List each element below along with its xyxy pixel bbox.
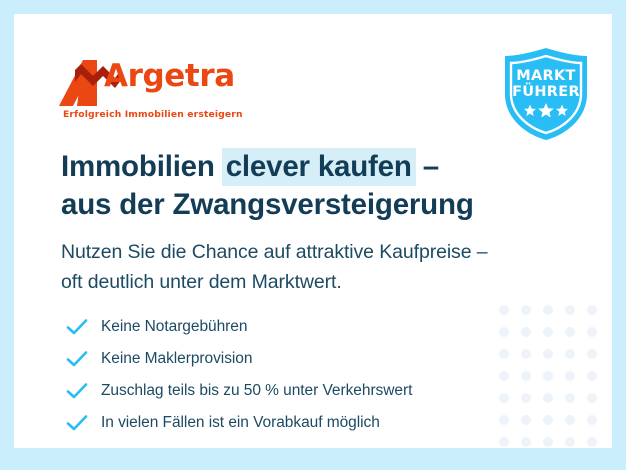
list-item-label: In vielen Fällen ist ein Vorabkauf mögli…: [101, 414, 380, 432]
list-item: In vielen Fällen ist ein Vorabkauf mögli…: [64, 408, 534, 438]
logo-tagline: Erfolgreich Immobilien ersteigern: [63, 109, 243, 120]
list-item: Zuschlag teils bis zu 50 % unter Verkehr…: [64, 376, 534, 406]
list-item-label: Keine Maklerprovision: [101, 350, 252, 368]
page-title: Immobilien clever kaufen – aus der Zwang…: [61, 148, 581, 224]
list-item-label: Keine Notargebühren: [101, 318, 247, 336]
headline-line-1: Immobilien clever kaufen –: [61, 148, 581, 186]
status-badge: MARKT FÜHRER: [501, 47, 591, 141]
headline-line-2: aus der Zwangsversteigerung: [61, 186, 581, 224]
banner-card: Argetra Erfolgreich Immobilien ersteiger…: [14, 14, 612, 448]
subheading: Nutzen Sie die Chance auf attraktive Kau…: [61, 238, 581, 297]
check-icon: [64, 346, 90, 372]
argetra-logo[interactable]: Argetra Erfolgreich Immobilien ersteiger…: [59, 58, 219, 120]
logo-wordmark: Argetra: [104, 61, 235, 92]
headline-part-before: Immobilien: [61, 150, 223, 183]
benefits-list: Keine Notargebühren Keine Maklerprovisio…: [64, 312, 534, 440]
subheading-line-1: Nutzen Sie die Chance auf attraktive Kau…: [61, 238, 581, 268]
shield-icon: [501, 47, 591, 141]
promo-banner: Argetra Erfolgreich Immobilien ersteiger…: [0, 0, 626, 470]
headline-highlight: clever kaufen: [222, 148, 416, 186]
headline-part-after: –: [415, 150, 439, 183]
list-item-label: Zuschlag teils bis zu 50 % unter Verkehr…: [101, 382, 412, 400]
check-icon: [64, 378, 90, 404]
check-icon: [64, 314, 90, 340]
subheading-line-2: oft deutlich unter dem Marktwert.: [61, 268, 581, 298]
list-item: Keine Maklerprovision: [64, 344, 534, 374]
list-item: Keine Notargebühren: [64, 312, 534, 342]
check-icon: [64, 410, 90, 436]
